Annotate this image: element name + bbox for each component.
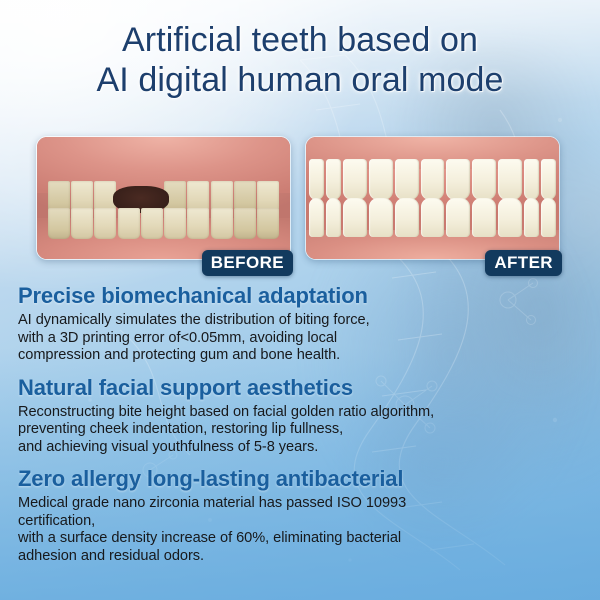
after-badge: AFTER	[485, 250, 562, 276]
before-photo-image	[36, 136, 291, 260]
page-title: Artificial teeth based on AI digital hum…	[0, 20, 600, 100]
feature-heading: Natural facial support aesthetics	[18, 374, 586, 402]
poster-canvas: Artificial teeth based on AI digital hum…	[0, 0, 600, 600]
before-badge: BEFORE	[202, 250, 293, 276]
lower-teeth-row	[47, 208, 280, 240]
feature-item: Zero allergy long-lasting antibacterial …	[18, 465, 586, 565]
feature-body-line: preventing cheek indentation, restoring …	[18, 421, 586, 439]
feature-body-line: Reconstructing bite height based on faci…	[18, 404, 586, 422]
mouth-before-illustration	[37, 137, 290, 259]
after-photo: AFTER	[305, 136, 560, 260]
page-title-line-1: Artificial teeth based on	[0, 20, 600, 60]
mouth-after-illustration	[306, 137, 559, 259]
before-photo: BEFORE	[36, 136, 291, 260]
before-after-comparison: BEFORE	[36, 136, 560, 260]
feature-item: Precise biomechanical adaptation AI dyna…	[18, 282, 586, 365]
feature-list: Precise biomechanical adaptation AI dyna…	[18, 282, 586, 565]
feature-body-line: with a 3D printing error of<0.05mm, avoi…	[18, 330, 586, 348]
feature-body-line: AI dynamically simulates the distributio…	[18, 312, 586, 330]
lower-teeth-row	[309, 198, 557, 237]
feature-item: Natural facial support aesthetics Recons…	[18, 374, 586, 457]
after-photo-image	[305, 136, 560, 260]
feature-body-line: and achieving visual youthfulness of 5-8…	[18, 439, 586, 457]
feature-body-line: compression and protecting gum and bone …	[18, 347, 586, 365]
feature-body-line: with a surface density increase of 60%, …	[18, 530, 586, 548]
page-title-line-2: AI digital human oral mode	[0, 60, 600, 100]
feature-body: Reconstructing bite height based on faci…	[18, 404, 586, 457]
feature-body-line: certification,	[18, 513, 586, 531]
feature-body: AI dynamically simulates the distributio…	[18, 312, 586, 365]
feature-body: Medical grade nano zirconia material has…	[18, 495, 586, 565]
feature-heading: Precise biomechanical adaptation	[18, 282, 586, 310]
feature-body-line: Medical grade nano zirconia material has…	[18, 495, 586, 513]
upper-teeth-row	[309, 159, 557, 200]
feature-body-line: adhesion and residual odors.	[18, 548, 586, 566]
feature-heading: Zero allergy long-lasting antibacterial	[18, 465, 586, 493]
